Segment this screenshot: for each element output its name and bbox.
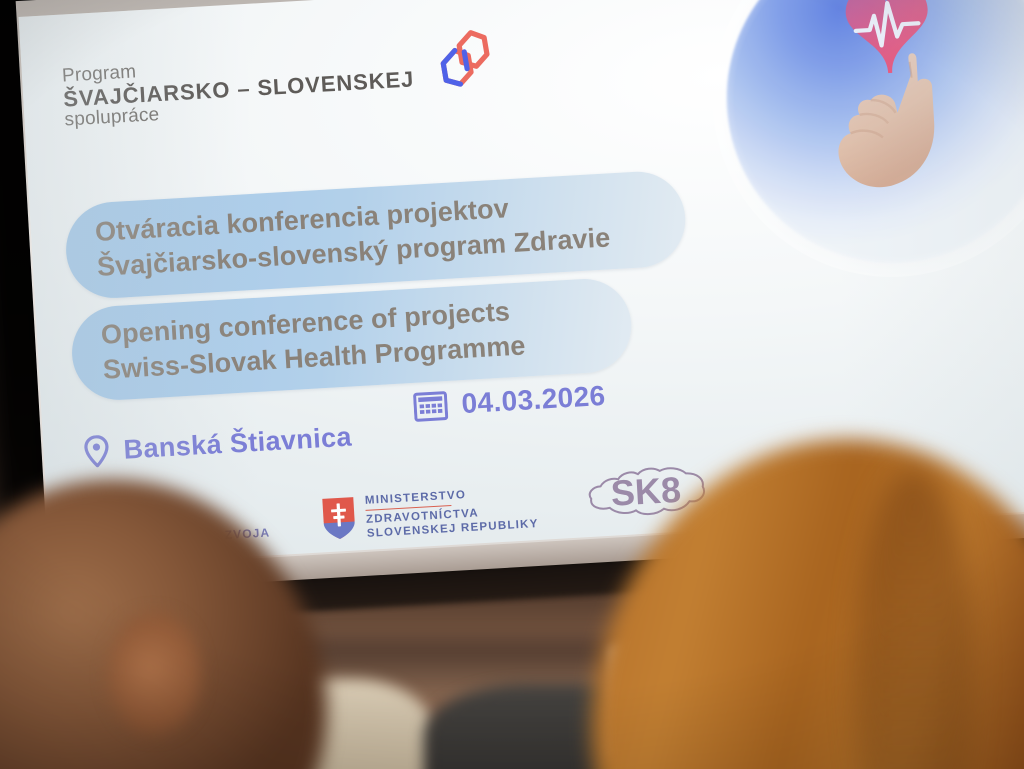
photo-vignette [0, 0, 1024, 769]
